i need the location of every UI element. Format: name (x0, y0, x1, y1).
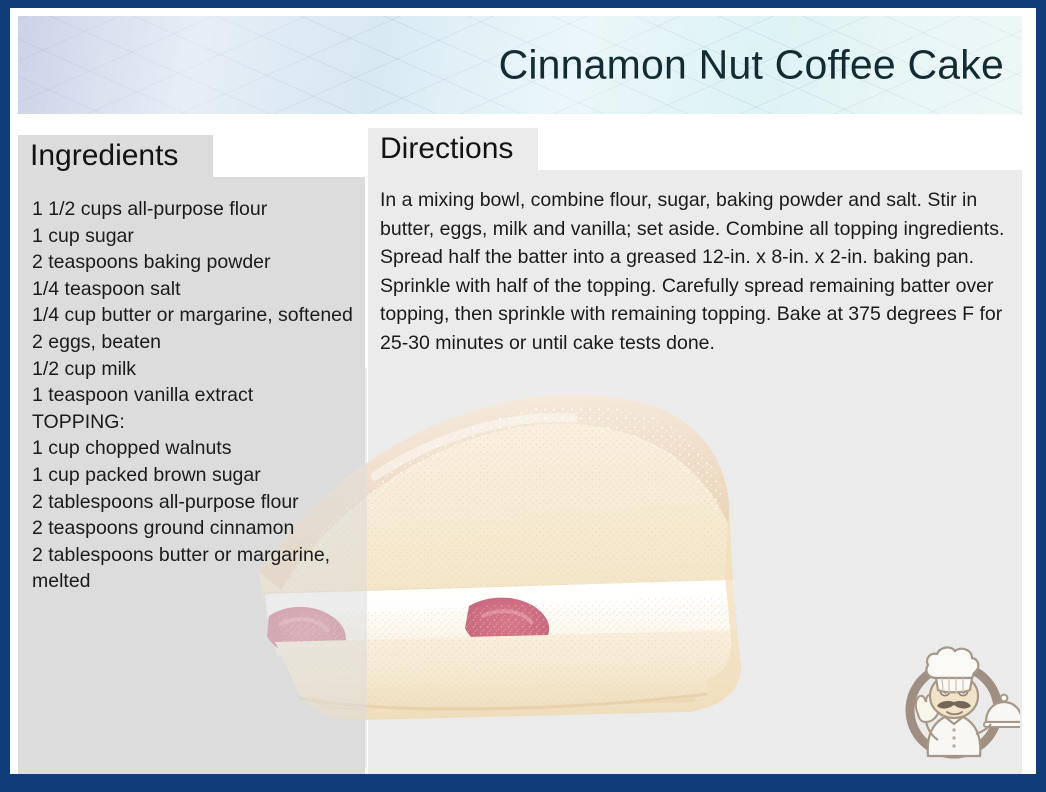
header-banner: Cinnamon Nut Coffee Cake (18, 16, 1022, 114)
ingredient-item: 1/4 teaspoon salt (32, 276, 355, 303)
ingredients-heading-label: Ingredients (30, 139, 178, 173)
chef-mascot-logo (892, 638, 1020, 766)
ingredient-item: 1 cup chopped walnuts (32, 435, 355, 462)
ingredients-heading-tab: Ingredients (18, 135, 213, 177)
ingredient-item: 2 eggs, beaten (32, 329, 355, 356)
ingredient-item: 1 1/2 cups all-purpose flour (32, 196, 355, 223)
ingredient-item: 2 teaspoons baking powder (32, 249, 355, 276)
recipe-card: Cinnamon Nut Coffee Cake 1 1/2 cups all-… (0, 0, 1046, 792)
ingredients-panel: 1 1/2 cups all-purpose flour1 cup sugar2… (18, 177, 365, 774)
ingredient-item: 1 cup packed brown sugar (32, 462, 355, 489)
directions-body: In a mixing bowl, combine flour, sugar, … (368, 170, 1022, 357)
recipe-page: Cinnamon Nut Coffee Cake 1 1/2 cups all-… (10, 8, 1036, 774)
ingredient-item: TOPPING: (32, 409, 355, 436)
ingredient-item: 2 tablespoons butter or margarine, melte… (32, 542, 355, 595)
ingredients-list: 1 1/2 cups all-purpose flour1 cup sugar2… (18, 177, 365, 595)
ingredient-item: 1 teaspoon vanilla extract (32, 382, 355, 409)
ingredient-item: 1 cup sugar (32, 223, 355, 250)
ingredient-item: 2 tablespoons all-purpose flour (32, 489, 355, 516)
directions-heading-label: Directions (380, 132, 513, 166)
directions-heading-tab: Directions (368, 128, 538, 170)
page-title: Cinnamon Nut Coffee Cake (499, 42, 1004, 89)
ingredient-item: 1/4 cup butter or margarine, softened (32, 302, 355, 329)
ingredient-item: 2 teaspoons ground cinnamon (32, 515, 355, 542)
ingredient-item: 1/2 cup milk (32, 356, 355, 383)
